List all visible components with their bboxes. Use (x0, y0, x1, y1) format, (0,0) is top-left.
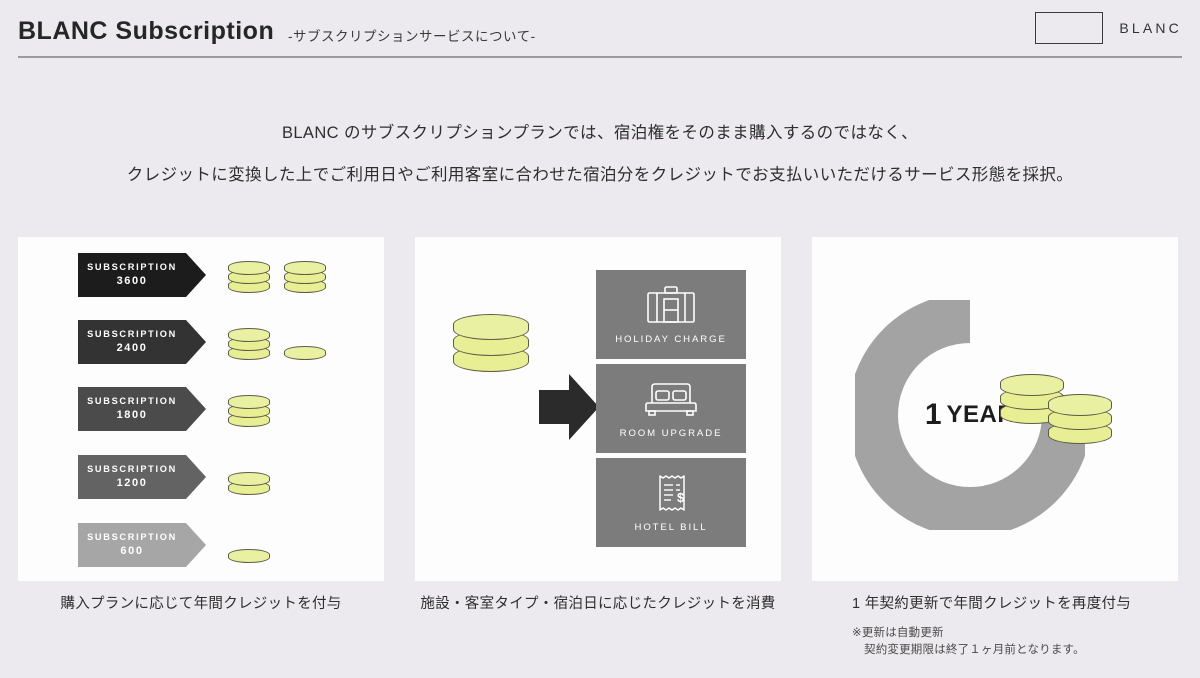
panel-plan-credits: SUBSCRIPTION3600SUBSCRIPTION2400SUBSCRIP… (18, 237, 384, 581)
coin-stack (228, 261, 270, 293)
tier-amount: 2400 (117, 341, 148, 356)
intro-text: BLANC のサブスクリプションプランでは、宿泊権をそのまま購入するのではなく、… (0, 112, 1200, 196)
tier-row[interactable]: SUBSCRIPTION3600 (78, 253, 378, 297)
intro-line-2: クレジットに変換した上でご利用日やご利用客室に合わせた宿泊分をクレジットでお支払… (0, 154, 1200, 196)
tier-tag: SUBSCRIPTION1800 (78, 387, 186, 431)
tier-amount: 3600 (117, 274, 148, 289)
coin (228, 549, 270, 563)
logo-text: BLANC (1119, 20, 1182, 36)
page-subtitle: -サブスクリプションサービスについて- (288, 25, 536, 45)
renewal-note: ※更新は自動更新 契約変更期限は終了１ヶ月前となります。 (852, 625, 1085, 659)
caption-plan-credits: 購入プランに応じて年間クレジットを付与 (18, 592, 384, 613)
coin (228, 472, 270, 486)
right-arrow-icon (539, 374, 599, 440)
category-label: HOLIDAY CHARGE (615, 334, 727, 345)
coin-stack (228, 328, 270, 360)
coin-stack (228, 395, 270, 427)
tier-coin-group (228, 253, 378, 297)
header-divider (18, 56, 1182, 58)
tier-coin-group (228, 523, 378, 567)
category-card-holiday-charge[interactable]: HOLIDAY CHARGE (596, 270, 746, 359)
intro-line-1: BLANC のサブスクリプションプランでは、宿泊権をそのまま購入するのではなく、 (0, 112, 1200, 154)
tier-tag: SUBSCRIPTION2400 (78, 320, 186, 364)
suitcase-icon (644, 285, 698, 325)
coin (228, 328, 270, 342)
page-header: BLANC Subscription -サブスクリプションサービスについて- B… (0, 0, 1200, 58)
tier-row[interactable]: SUBSCRIPTION1800 (78, 387, 378, 431)
coin (284, 261, 326, 275)
brand-logo: BLANC (1035, 13, 1182, 43)
tier-label: SUBSCRIPTION (87, 531, 177, 544)
renewal-note-line-2: 契約変更期限は終了１ヶ月前となります。 (852, 642, 1085, 659)
svg-text:$: $ (677, 490, 685, 505)
coin (1048, 394, 1112, 416)
blank-rectangle-icon (1035, 12, 1103, 44)
tier-label: SUBSCRIPTION (87, 463, 177, 476)
coin-stack (453, 314, 529, 372)
tier-amount: 1800 (117, 408, 148, 423)
category-label: ROOM UPGRADE (620, 428, 723, 439)
bed-icon (644, 379, 698, 419)
page-title: BLANC Subscription (18, 17, 274, 46)
coin (453, 314, 529, 340)
tier-tag: SUBSCRIPTION600 (78, 523, 186, 567)
tier-coin-group (228, 455, 378, 499)
tier-label: SUBSCRIPTION (87, 261, 177, 274)
tier-coin-group (228, 320, 378, 364)
tier-amount: 1200 (117, 476, 148, 491)
coin (284, 346, 326, 360)
tier-amount: 600 (120, 544, 143, 559)
tier-label: SUBSCRIPTION (87, 328, 177, 341)
category-label: HOTEL BILL (634, 522, 707, 533)
coin (228, 395, 270, 409)
tier-tag: SUBSCRIPTION3600 (78, 253, 186, 297)
renewal-note-line-1: ※更新は自動更新 (852, 625, 1085, 642)
tier-row[interactable]: SUBSCRIPTION1200 (78, 455, 378, 499)
receipt-icon: $ (644, 473, 698, 513)
coin-stack (284, 346, 326, 360)
tier-tag: SUBSCRIPTION1200 (78, 455, 186, 499)
category-card-hotel-bill[interactable]: $ HOTEL BILL (596, 458, 746, 547)
coin (228, 261, 270, 275)
category-card-room-upgrade[interactable]: ROOM UPGRADE (596, 364, 746, 453)
tier-row[interactable]: SUBSCRIPTION2400 (78, 320, 378, 364)
coin-stack (228, 549, 270, 563)
coin-stack (1048, 394, 1112, 444)
caption-renewal: 1 年契約更新で年間クレジットを再度付与 (812, 592, 1178, 613)
tier-row[interactable]: SUBSCRIPTION600 (78, 523, 378, 567)
tier-label: SUBSCRIPTION (87, 395, 177, 408)
coin-stack (228, 472, 270, 495)
tier-coin-group (228, 387, 378, 431)
coin (1000, 374, 1064, 396)
coin-stack (284, 261, 326, 293)
caption-credit-usage: 施設・客室タイプ・宿泊日に応じたクレジットを消費 (415, 592, 781, 613)
